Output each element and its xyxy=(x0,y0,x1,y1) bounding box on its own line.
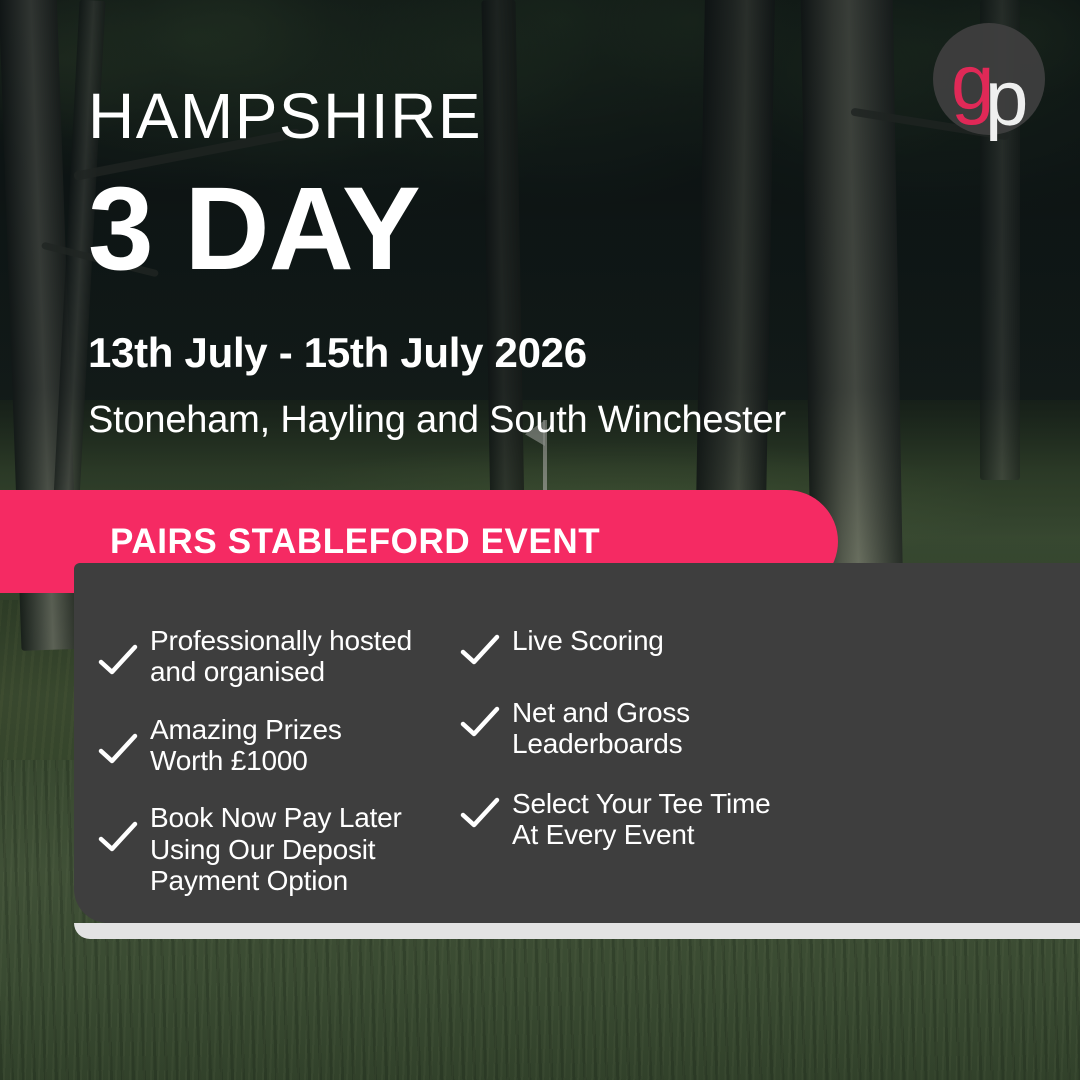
feature-label: Select Your Tee Time At Every Event xyxy=(512,788,771,851)
check-icon xyxy=(458,629,502,673)
feature-label: Live Scoring xyxy=(512,625,664,656)
feature-item: Select Your Tee Time At Every Event xyxy=(458,788,878,851)
feature-label: Amazing Prizes Worth £1000 xyxy=(150,714,342,777)
event-dates: 13th July - 15th July 2026 xyxy=(88,330,918,376)
features-panel: Professionally hosted and organised Amaz… xyxy=(74,563,1080,923)
feature-item: Live Scoring xyxy=(458,625,878,669)
feature-label: Net and Gross Leaderboards xyxy=(512,697,690,760)
feature-item: Net and Gross Leaderboards xyxy=(458,697,878,760)
check-icon xyxy=(96,639,140,683)
feature-item: Amazing Prizes Worth £1000 xyxy=(96,714,446,777)
feature-item: Professionally hosted and organised xyxy=(96,625,446,688)
check-icon xyxy=(458,792,502,836)
features-column-left: Professionally hosted and organised Amaz… xyxy=(96,625,446,923)
headline-block: HAMPSHIRE 3 DAY 13th July - 15th July 20… xyxy=(88,84,918,442)
logo-letter-p: p xyxy=(985,59,1028,137)
check-icon xyxy=(96,816,140,860)
event-format-label: PAIRS STABLEFORD EVENT xyxy=(110,522,600,562)
feature-label: Book Now Pay Later Using Our Deposit Pay… xyxy=(150,802,402,896)
features-column-right: Live Scoring Net and Gross Leaderboards … xyxy=(458,625,878,923)
event-venues: Stoneham, Hayling and South Winchester xyxy=(88,400,918,442)
feature-label: Professionally hosted and organised xyxy=(150,625,412,688)
check-icon xyxy=(96,728,140,772)
feature-item: Book Now Pay Later Using Our Deposit Pay… xyxy=(96,802,446,896)
event-region: HAMPSHIRE xyxy=(88,84,918,148)
event-poster: g p HAMPSHIRE 3 DAY 13th July - 15th Jul… xyxy=(0,0,1080,1080)
brand-logo[interactable]: g p xyxy=(933,23,1045,135)
check-icon xyxy=(458,701,502,745)
panel-bottom-accent-bar xyxy=(74,923,1080,939)
event-duration: 3 DAY xyxy=(88,170,918,288)
